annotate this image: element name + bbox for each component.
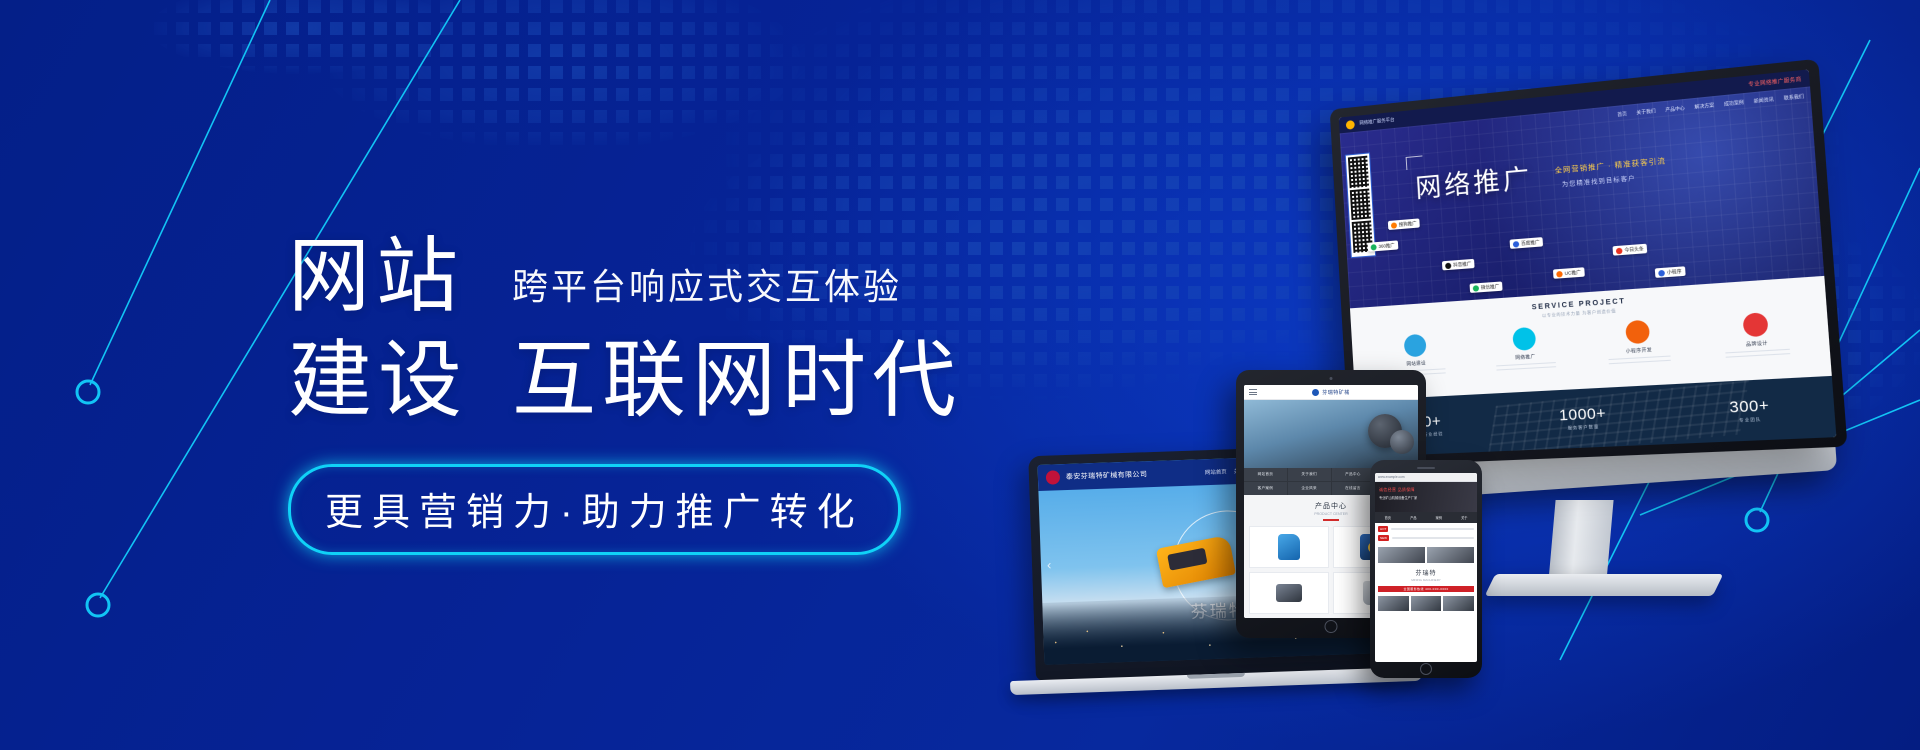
tagline-badge: 更具营销力·助力推广转化 [288,464,901,555]
tablet-hero-product-image-2 [1390,430,1414,454]
service-card-divider [1726,353,1790,358]
brand-chip-label: 今日头条 [1624,246,1644,254]
stat-number: 1000+ [1559,405,1607,425]
brand-chip: 今日头条 [1612,244,1647,256]
tablet-nav-item: 网站首页 [1244,468,1287,481]
phone-tab: 关于 [1452,512,1478,523]
brand-chip: 百度推广 [1510,237,1543,249]
phone-hotline-bar: 全国服务热线 400-000-0000 [1378,586,1474,592]
brand-chip: 抖音推广 [1442,259,1475,271]
monitor-service-cards: 网站建设 网络推广 [1352,308,1830,381]
phone-home-button-icon [1420,663,1432,675]
monitor-nav-item: 解决方案 [1694,102,1714,110]
laptop-nav-item: 网站首页 [1205,467,1227,476]
service-card: 小程序开发 [1586,317,1691,368]
phone-url-bar: www.example.com [1375,473,1477,482]
tablet-camera-icon [1330,377,1333,380]
monitor-nav-item: 成功案例 [1724,99,1744,107]
monitor-hero-sub1: 全网营销推广 · 精准获客引流 [1554,156,1666,176]
service-card-title: 小程序开发 [1588,345,1690,357]
brand-chip-label: 微信推广 [1481,283,1500,290]
brand-chip-icon [1658,269,1665,276]
brand-chip-icon [1371,244,1377,250]
tablet-nav-item: 企业风采 [1288,482,1331,495]
banner-subtitle: 跨平台响应式交互体验 [512,258,902,318]
brand-chip-icon [1391,222,1397,229]
phone-nav-tabs: 首页 产品 案例 关于 [1375,512,1477,523]
monitor-site-brand: 网络推广服务平台 [1359,117,1394,127]
service-card-divider [1609,359,1670,364]
monitor-stand-foot [1485,574,1724,596]
phone-mockup: www.example.com 诚信经营 品质保障 专业矿山机械设备生产厂家 首… [1370,460,1482,678]
brand-chip-label: 360推广 [1378,242,1395,249]
phone-banner-subline: 专业矿山机械设备生产厂家 [1379,495,1417,500]
phone-photo [1378,596,1409,611]
headline-line2-b: 互联网时代 [512,338,962,422]
monitor-nav-item: 首页 [1617,111,1627,118]
product-image [1276,584,1302,602]
brand-chip-label: 百度推广 [1521,239,1540,247]
monitor-site-logo-icon [1346,120,1355,130]
product-cell [1249,526,1329,568]
monitor-hero-sub2: 为您精准找到目标客户 [1562,173,1636,189]
laptop-site-brand: 泰安芬瑞特矿械有限公司 [1066,469,1148,482]
product-image [1278,534,1300,560]
product-cell [1249,572,1329,614]
laptop-carousel-prev-icon: ‹ [1047,557,1052,572]
brand-chip: 小程序 [1655,266,1685,278]
phone-photo-grid [1375,596,1477,614]
monitor-nav-item: 联系我们 [1784,94,1805,102]
monitor-nav-item: 产品中心 [1665,105,1685,113]
phone-list-rows: HOT NEW [1375,523,1477,547]
qr-code-icon [1348,156,1369,188]
service-card: 品牌设计 [1702,310,1811,362]
phone-thumbnail-grid [1375,547,1477,563]
brand-chip-label: 小程序 [1667,268,1682,275]
phone-brand-subtitle: MINING MACHINERY [1375,578,1477,582]
hamburger-menu-icon [1249,387,1257,396]
phone-tab: 产品 [1401,512,1427,523]
headline-row-1: 网站 跨平台响应式交互体验 [288,236,1068,318]
headline-row-2: 建设 互联网时代 [288,338,1068,422]
list-item: NEW [1378,535,1474,541]
tagline-wrapper: 更具营销力·助力推广转化 [288,464,1068,555]
qr-code-icon [1350,188,1371,220]
service-card-title: 网站建设 [1369,358,1464,370]
service-card-icon [1742,312,1768,337]
phone-brand-title: 芬瑞特 [1375,563,1477,578]
tablet-site-logo-icon [1312,389,1319,396]
tablet-nav-item: 在线留言 [1332,482,1375,495]
brand-chip: UC推广 [1553,267,1584,279]
monitor-site-notice: 专业网络推广服务商 [1748,75,1802,88]
brand-chip-label: UC推广 [1564,269,1581,276]
brand-chip-label: 抖音推广 [1453,261,1471,268]
service-card-icon [1625,320,1650,345]
phone-photo [1443,596,1474,611]
phone-thumbnail [1427,547,1474,563]
tablet-nav-item: 关于我们 [1288,468,1331,481]
brand-chip-icon [1473,285,1479,292]
laptop-notch [1187,673,1245,679]
banner-copy-block: 网站 跨平台响应式交互体验 建设 互联网时代 更具营销力·助力推广转化 [288,236,1068,555]
service-card-icon [1404,334,1427,358]
device-mockup-cluster: 泰安芬瑞特矿械有限公司 网站首页 关于我们 产品中心 新闻资讯 客户案例 人才招… [1040,120,1920,640]
headline-line1: 网站 [288,236,464,318]
service-card-title: 品牌设计 [1704,338,1810,351]
phone-speaker-icon [1417,467,1435,469]
tablet-site-brand: 芬瑞特矿械 [1322,389,1350,396]
tablet-nav-item: 产品中心 [1332,468,1375,481]
tablet-site-navbar: 芬瑞特矿械 [1244,385,1418,400]
phone-tab: 案例 [1426,512,1452,523]
tablet-hero [1244,400,1418,468]
service-card-title: 网络推广 [1477,352,1575,364]
phone-thumbnail [1378,547,1425,563]
phone-row-tag: NEW [1378,535,1389,541]
list-item: HOT [1378,526,1474,532]
service-card: 网络推广 [1475,324,1576,374]
headline-line2-a: 建设 [288,338,468,422]
stat-label: 专业团队 [1730,416,1770,424]
monitor-nav-item: 关于我们 [1636,108,1656,116]
tablet-section-underline [1323,519,1339,521]
phone-screen: www.example.com 诚信经营 品质保障 专业矿山机械设备生产厂家 首… [1375,473,1477,662]
monitor-hero-title: 网络推广 [1414,158,1533,206]
phone-banner-headline: 诚信经营 品质保障 [1379,487,1415,493]
tablet-nav-item: 客户案例 [1244,482,1287,495]
service-card-divider [1497,366,1556,371]
stat-number: 300+ [1729,397,1770,417]
brand-chip-icon [1556,270,1563,277]
phone-row-tag: HOT [1378,526,1388,532]
monitor-stand-neck [1548,500,1613,582]
phone-photo [1411,596,1442,611]
promo-banner: 网站 跨平台响应式交互体验 建设 互联网时代 更具营销力·助力推广转化 泰安芬瑞… [0,0,1920,750]
brand-chip: 360推广 [1368,240,1398,251]
brand-chip-icon [1513,240,1520,247]
phone-banner: 诚信经营 品质保障 专业矿山机械设备生产厂家 [1375,482,1477,512]
brand-chip-label: 搜狗推广 [1399,220,1417,227]
brand-chip: 搜狗推广 [1388,218,1420,230]
stat-item: 300+ 专业团队 [1729,397,1771,425]
brand-chip-icon [1616,247,1623,254]
stat-item: 1000+ 服务客户数量 [1559,405,1608,432]
brand-chip: 微信推广 [1470,281,1503,292]
tablet-home-button-icon [1325,620,1338,633]
phone-tab: 首页 [1375,512,1401,523]
stat-label: 服务客户数量 [1560,423,1607,431]
service-card-icon [1512,327,1536,351]
monitor-nav-item: 新闻资讯 [1754,97,1774,105]
brand-chip-icon [1445,262,1451,269]
